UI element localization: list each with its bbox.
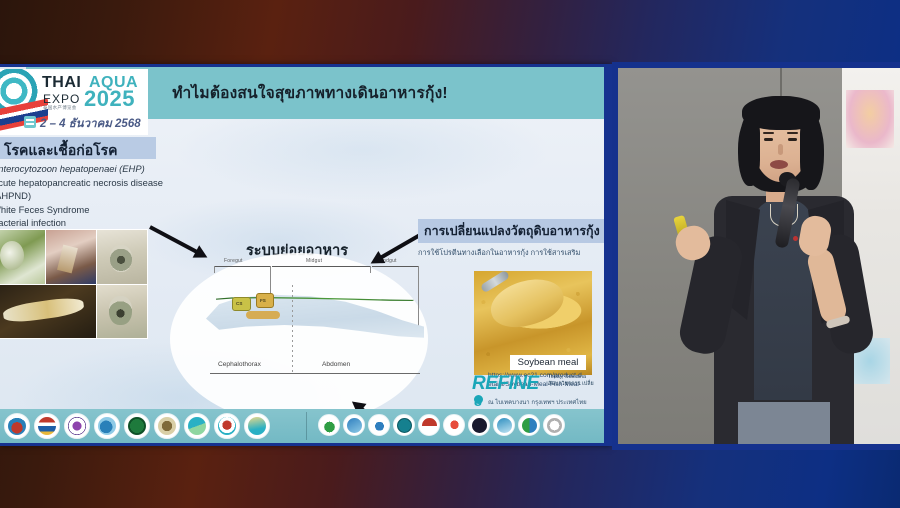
speaker-video bbox=[618, 68, 900, 444]
disease-callout-heading: โรคและเชื้อก่อโรค bbox=[4, 140, 118, 162]
sponsor-logo bbox=[468, 414, 490, 436]
sponsor-logo bbox=[368, 414, 390, 436]
disease-list-item: Enterocytozoon hepatopenaei (EHP) bbox=[0, 162, 170, 176]
body-segment-divider bbox=[292, 285, 293, 373]
refine-wordmark: REFINE bbox=[472, 373, 539, 395]
sponsor-logo bbox=[154, 413, 180, 439]
sponsor-logo bbox=[418, 414, 440, 436]
soybean-meal-caption: Soybean meal bbox=[510, 355, 586, 370]
sponsor-logo bbox=[94, 413, 120, 439]
sponsor-logo-strip bbox=[0, 409, 604, 443]
calendar-icon bbox=[24, 116, 36, 128]
disease-list: Enterocytozoon hepatopenaei (EHP) Acute … bbox=[0, 162, 170, 230]
body-label-abdomen: Abdomen bbox=[322, 361, 350, 368]
sponsor-logo bbox=[124, 413, 150, 439]
speaker-video-frame bbox=[612, 62, 900, 450]
disease-photo-grid bbox=[0, 229, 148, 339]
sponsor-logo bbox=[214, 413, 240, 439]
organ-label-cs: CS bbox=[236, 301, 242, 306]
disease-list-item: White Feces Syndrome bbox=[0, 203, 170, 217]
sponsor-logo bbox=[493, 414, 515, 436]
sponsor-logo bbox=[4, 413, 30, 439]
shrimp-body-illustration bbox=[206, 277, 424, 357]
sponsor-logo-row-secondary bbox=[318, 414, 565, 436]
body-segment-line bbox=[210, 373, 420, 374]
callout-feed-ingredient-title: การเปลี่ยนแปลงวัตถุดิบอาหารกุ้ง bbox=[418, 219, 604, 243]
refine-tagline-en: Today, Sustaina bbox=[548, 374, 602, 381]
disease-photo bbox=[46, 230, 96, 284]
organ-label-fs: FS bbox=[260, 298, 266, 303]
presentation-slide: ทำไมต้องสนใจสุขภาพทางเดินอาหารกุ้ง! THAI… bbox=[0, 67, 604, 443]
organ-hepatopancreas bbox=[246, 311, 280, 319]
speaker-hair-side-left bbox=[738, 120, 760, 186]
refine-venue: ณ ไบเทคบางนา กรุงเทพฯ ประเทศไทย bbox=[488, 397, 587, 407]
sponsor-logo bbox=[184, 413, 210, 439]
expo-logo-expo: EXPO bbox=[43, 92, 80, 106]
sponsor-logo bbox=[64, 413, 90, 439]
sponsor-logo bbox=[543, 414, 565, 436]
shrimp-anatomy-diagram: Foregut Midgut Hindgut CS FS Cephalothor… bbox=[200, 257, 432, 405]
sponsor-logo-row-primary bbox=[4, 413, 270, 439]
speaker-eye-right bbox=[788, 138, 797, 141]
expo-logo-thai: THAI bbox=[42, 74, 81, 92]
slide-frame: ทำไมต้องสนใจสุขภาพทางเดินอาหารกุ้ง! THAI… bbox=[0, 64, 612, 446]
disease-photo bbox=[0, 230, 45, 284]
speaker-hair-side-right bbox=[800, 120, 824, 190]
speaker-skirt bbox=[738, 402, 830, 444]
speaker-nose bbox=[778, 144, 783, 155]
body-label-cephalothorax: Cephalothorax bbox=[218, 361, 261, 368]
disease-photo bbox=[97, 230, 147, 284]
microphone-indicator-icon bbox=[793, 236, 798, 241]
expo-logo: THAI AQUA EXPO 2025 泰国水产博览会 2 – 4 ธันวาค… bbox=[0, 69, 148, 135]
sponsor-logo bbox=[318, 414, 340, 436]
speaker-eyebrow-right bbox=[787, 132, 798, 134]
logo-strip-divider bbox=[306, 412, 307, 440]
sponsor-logo bbox=[393, 414, 415, 436]
refine-tagline: Today, Sustaina สัมนาวิชาการ เปลี่ย bbox=[548, 374, 602, 388]
expo-logo-year: 2025 bbox=[84, 86, 135, 112]
speaker-eyebrow-left bbox=[763, 132, 774, 134]
gut-label-midgut: Midgut bbox=[306, 258, 322, 264]
disease-callout-heading-box: โรคและเชื้อก่อโรค bbox=[0, 137, 156, 159]
speaker-eye-left bbox=[764, 138, 773, 141]
broadcast-stage: ทำไมต้องสนใจสุขภาพทางเดินอาหารกุ้ง! THAI… bbox=[0, 0, 900, 508]
disease-list-item: Bacterial infection bbox=[0, 216, 170, 230]
sponsor-logo bbox=[343, 414, 365, 436]
refine-edition-number: 8 bbox=[474, 393, 482, 409]
sponsor-logo bbox=[244, 413, 270, 439]
gut-label-foregut: Foregut bbox=[224, 258, 243, 264]
sponsor-logo bbox=[443, 414, 465, 436]
disease-photo bbox=[0, 285, 96, 339]
sponsor-logo bbox=[518, 414, 540, 436]
callout-feed-ingredient-subtitle: การใช้โปรตีนทางเลือกในอาหารกุ้ง การใช้สา… bbox=[418, 247, 580, 259]
sponsor-logo bbox=[34, 413, 60, 439]
expo-logo-date: 2 – 4 ธันวาคม 2568 bbox=[40, 115, 141, 133]
disease-list-item: Acute hepatopancreatic necrosis disease … bbox=[0, 176, 170, 203]
refine-tagline-th: สัมนาวิชาการ เปลี่ย bbox=[548, 381, 602, 388]
expo-logo-chinese: 泰国水产博览会 bbox=[43, 105, 77, 111]
disease-photo bbox=[97, 285, 147, 339]
speaker-mouth bbox=[770, 160, 788, 169]
